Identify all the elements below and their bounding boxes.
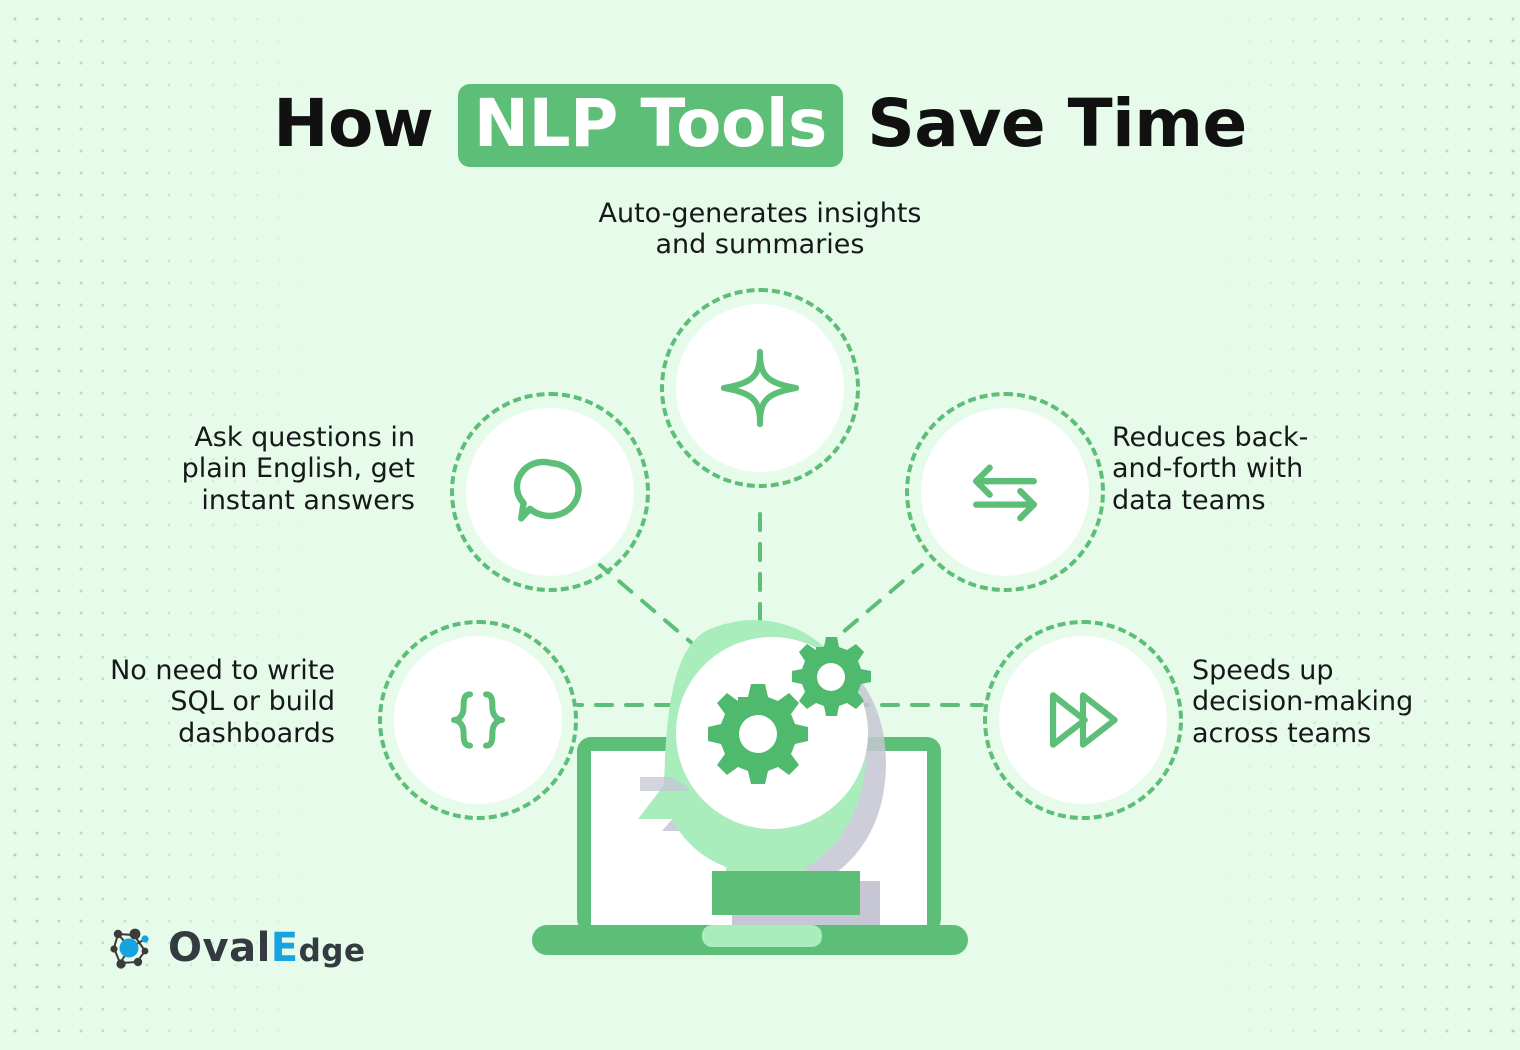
title-highlight-badge: NLP Tools (458, 84, 843, 167)
page-title: How NLP Tools Save Time (0, 84, 1520, 167)
laptop-notch (702, 925, 822, 947)
title-before: How (273, 85, 433, 162)
caption-faster-decisions: Speeds up decision-making across teams (1192, 655, 1512, 749)
caption-no-sql: No need to write SQL or build dashboards (45, 655, 335, 749)
infographic-canvas: How NLP Tools Save Time (0, 0, 1520, 1050)
caption-plain-english: Ask questions in plain English, get inst… (110, 422, 415, 516)
sparkle-icon (717, 345, 803, 431)
network-nodes-icon (104, 922, 156, 974)
fast-forward-icon (1039, 676, 1127, 764)
node-faster-decisions[interactable] (983, 620, 1183, 820)
node-reduce-backforth[interactable] (905, 392, 1105, 592)
illustration-svg (520, 585, 980, 975)
logo-text-highlight: E (271, 925, 299, 971)
node-disc (921, 408, 1089, 576)
caption-reduce-backforth: Reduces back- and-forth with data teams (1112, 422, 1442, 516)
logo-wordmark: OvalEdge (168, 928, 366, 968)
curly-braces-icon (438, 680, 518, 760)
node-plain-english[interactable] (450, 392, 650, 592)
ovaledge-logo[interactable]: OvalEdge (104, 922, 366, 974)
node-disc (676, 304, 844, 472)
caption-auto-insights: Auto-generates insights and summaries (490, 198, 1030, 261)
logo-text-last: dge (299, 933, 366, 969)
logo-text-first: Oval (168, 925, 271, 971)
node-disc (466, 408, 634, 576)
exchange-arrows-icon (960, 447, 1050, 537)
ai-head-laptop-illustration (520, 585, 980, 975)
gear-small (792, 637, 871, 716)
gear-large (708, 684, 808, 784)
neck-block (712, 871, 860, 915)
node-disc (999, 636, 1167, 804)
chat-bubble-icon (510, 452, 590, 532)
node-auto-insights[interactable] (660, 288, 860, 488)
title-after: Save Time (867, 85, 1247, 162)
